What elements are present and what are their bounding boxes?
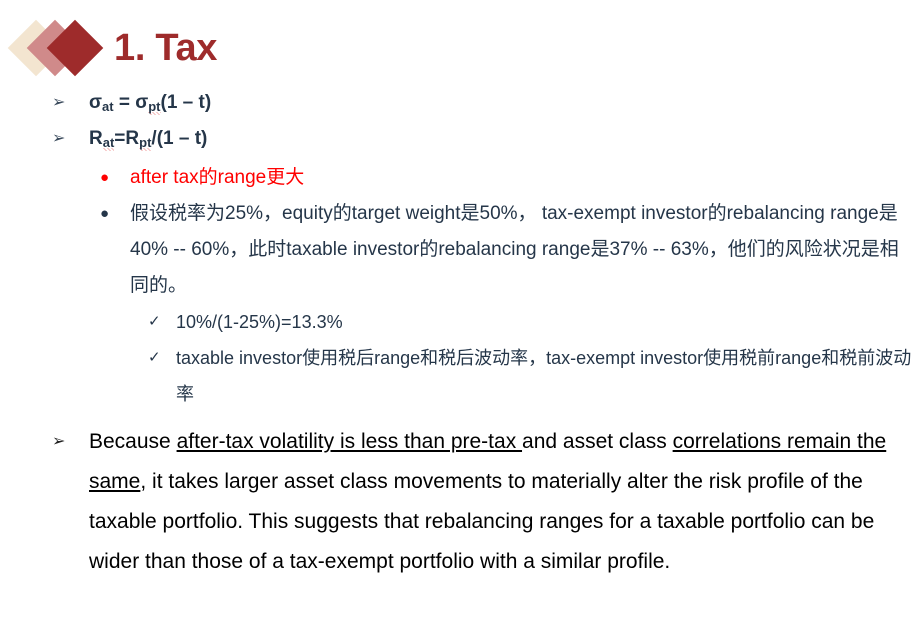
check-line-2: ✓ taxable investor使用税后range和税后波动率，tax-ex… [148, 340, 917, 412]
conclusion-underline-1: after-tax volatility is less than pre-ta… [177, 430, 522, 453]
conclusion-part-2: and asset class [522, 430, 673, 453]
formula-2-text: Rat=Rpt/(1 – t) [89, 124, 917, 158]
formula-2-lhs-sub: at [103, 135, 115, 151]
formula-2-rhs-base: R [125, 128, 139, 149]
slide-title-row: 1. Tax [0, 12, 217, 84]
arrow-bullet-icon: ➢ [52, 88, 89, 118]
formula-2-eq: = [114, 128, 125, 149]
formula-1-rhs-sub: pt [148, 99, 160, 115]
example-line: ● 假设税率为25%，equity的target weight是50%， tax… [100, 196, 917, 304]
red-note-text: after tax的range更大 [130, 160, 917, 196]
formula-1-tail: (1 – t) [161, 92, 212, 113]
red-note-line: ● after tax的range更大 [100, 160, 917, 196]
formula-1-rhs-base: σ [135, 92, 148, 113]
slide-body: ➢ σat = σpt(1 – t) ➢ Rat=Rpt/(1 – t) ● a… [0, 88, 917, 582]
formula-1-text: σat = σpt(1 – t) [89, 88, 917, 122]
formula-line-1: ➢ σat = σpt(1 – t) [52, 88, 917, 122]
check-bullet-icon: ✓ [148, 304, 176, 340]
slide: 1. Tax ➢ σat = σpt(1 – t) ➢ Rat=Rpt/(1 –… [0, 0, 917, 634]
page-title: 1. Tax [114, 29, 217, 67]
conclusion-line: ➢ Because after-tax volatility is less t… [52, 422, 917, 582]
conclusion-text: Because after-tax volatility is less tha… [89, 422, 889, 582]
formula-2-rhs-sub: pt [139, 135, 151, 151]
conclusion-part-3: , it takes larger asset class movements … [89, 470, 874, 573]
formula-1-lhs-base: σ [89, 92, 102, 113]
check-text-2: taxable investor使用税后range和税后波动率，tax-exem… [176, 340, 917, 412]
check-line-1: ✓ 10%/(1-25%)=13.3% [148, 304, 917, 340]
dot-bullet-icon: ● [100, 196, 130, 232]
formula-2-lhs-base: R [89, 128, 103, 149]
formula-2-tail: /(1 – t) [151, 128, 207, 149]
conclusion-part-1: Because [89, 430, 177, 453]
arrow-bullet-icon: ➢ [52, 124, 89, 154]
formula-line-2: ➢ Rat=Rpt/(1 – t) [52, 124, 917, 158]
check-text-1: 10%/(1-25%)=13.3% [176, 304, 917, 340]
formula-1-eq: = [114, 92, 136, 113]
formula-1-lhs-sub: at [102, 99, 114, 114]
dot-bullet-icon: ● [100, 160, 130, 196]
example-text: 假设税率为25%，equity的target weight是50%， tax-e… [130, 196, 917, 304]
arrow-bullet-icon: ➢ [52, 422, 89, 462]
check-bullet-icon: ✓ [148, 340, 176, 376]
diamond-logo-icon [14, 16, 112, 80]
